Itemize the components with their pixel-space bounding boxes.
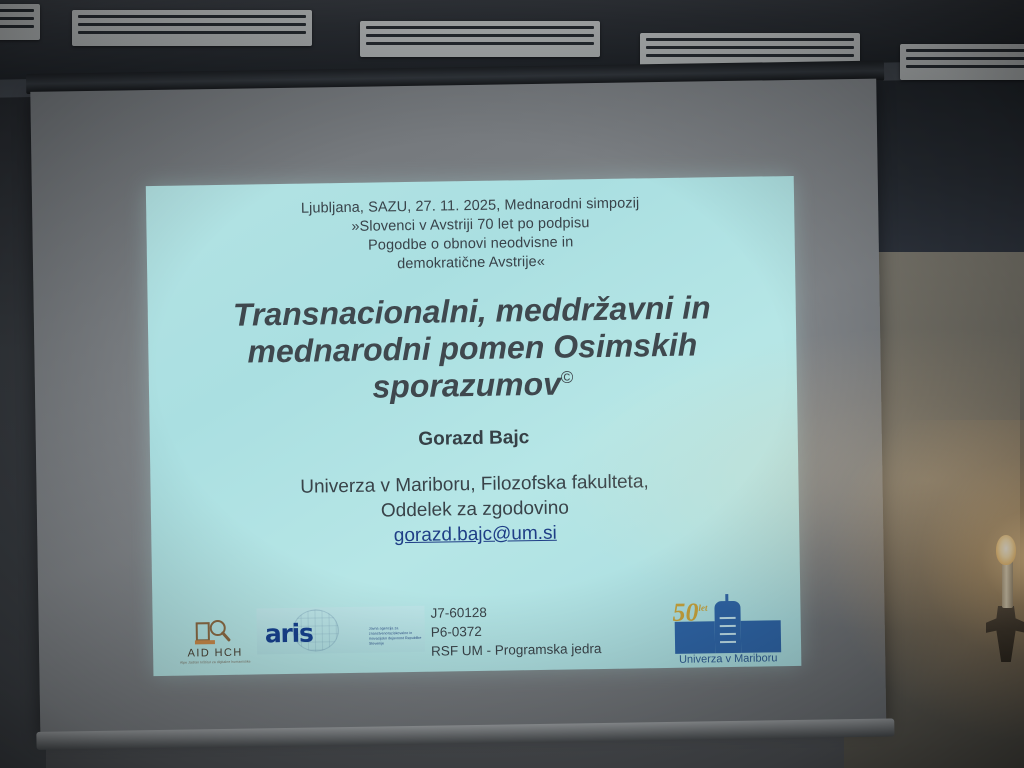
presentation-slide: Ljubljana, SAZU, 27. 11. 2025, Mednarodn… (146, 176, 802, 676)
projection-screen: Ljubljana, SAZU, 27. 11. 2025, Mednarodn… (26, 61, 895, 764)
conference-room-photo: Ljubljana, SAZU, 27. 11. 2025, Mednarodn… (0, 0, 1024, 768)
air-vent-grille (0, 4, 40, 40)
slide-title: Transnacionalni, meddržavni in mednarodn… (170, 288, 776, 410)
project-codes: J7-60128 P6-0372 RSF UM - Programska jed… (430, 601, 601, 661)
air-vent-grille (72, 10, 312, 46)
building-right-wing-icon (741, 620, 781, 653)
aris-tagline: Javna agencija za znanstvenoraziskovalno… (369, 626, 425, 646)
building-tower-icon (714, 601, 741, 653)
project-code-3: RSF UM - Programska jedra (431, 639, 602, 661)
email-link[interactable]: gorazd.bajc@um.si (394, 522, 557, 549)
aid-hch-subtitle: Alpe Jadran Inštitut za digitalne humani… (177, 660, 253, 665)
air-vent-grille (900, 44, 1024, 80)
book-magnifier-icon (191, 619, 235, 648)
aid-hch-label: AID HCH (177, 647, 253, 660)
copyright-icon: © (561, 368, 574, 387)
slide-header: Ljubljana, SAZU, 27. 11. 2025, Mednarodn… (146, 192, 795, 279)
sconce-lamp-icon (996, 535, 1016, 565)
air-vent-grille (360, 21, 600, 57)
slide-footer: J7-60128 P6-0372 RSF UM - Programska jed… (152, 592, 801, 676)
anniversary-sup: let (698, 603, 707, 613)
aris-wordmark: aris (265, 619, 313, 649)
building-left-wing-icon (675, 621, 715, 654)
university-of-maribor-logo: 50let Univerza v Mariboru (666, 594, 789, 666)
aris-logo: aris Javna agencija za znanstvenorazisko… (256, 606, 425, 655)
project-code-1: J7-60128 (430, 601, 601, 623)
slide-affiliation: Univerza v Mariboru, Filozofska fakultet… (150, 468, 799, 553)
aid-hch-logo: AID HCH Alpe Jadran Inštitut za digitaln… (177, 619, 254, 670)
title-line-3-text: sporazumov (372, 366, 561, 405)
sconce-candle-stem (1002, 560, 1013, 608)
university-name-label: Univerza v Mariboru (667, 652, 789, 666)
slide-author: Gorazd Bajc (150, 423, 798, 455)
